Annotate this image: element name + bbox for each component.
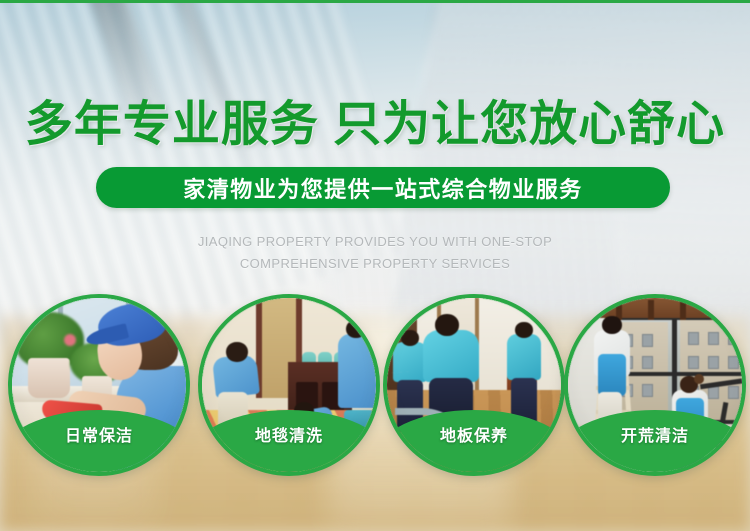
service-circle-daily-cleaning[interactable]: 日常保洁 [8, 294, 190, 476]
subtitle-line-1: JIAQING PROPERTY PROVIDES YOU WITH ONE-S… [0, 231, 750, 253]
subtitle-line-2: COMPREHENSIVE PROPERTY SERVICES [0, 253, 750, 275]
service-label: 日常保洁 [65, 422, 133, 446]
service-circle-carpet-washing[interactable]: 地毯清洗 [198, 294, 380, 476]
tagline-pill: 家清物业为您提供一站式综合物业服务 [96, 167, 670, 208]
top-green-rule [0, 0, 750, 3]
subtitle-english: JIAQING PROPERTY PROVIDES YOU WITH ONE-S… [0, 231, 750, 275]
promo-banner: 多年专业服务 只为让您放心舒心 家清物业为您提供一站式综合物业服务 JIAQIN… [0, 0, 750, 531]
service-circle-post-construction[interactable]: 开荒清洁 [564, 294, 746, 476]
page-title: 多年专业服务 只为让您放心舒心 [0, 84, 750, 154]
service-label: 开荒清洁 [621, 422, 689, 446]
service-label: 地毯清洗 [255, 422, 323, 446]
service-circle-row: 日常保洁 地毯清洗 [0, 294, 750, 484]
tagline-text: 家清物业为您提供一站式综合物业服务 [183, 172, 583, 204]
service-label: 地板保养 [440, 422, 508, 446]
service-circle-floor-maintenance[interactable]: 地板保养 [383, 294, 565, 476]
